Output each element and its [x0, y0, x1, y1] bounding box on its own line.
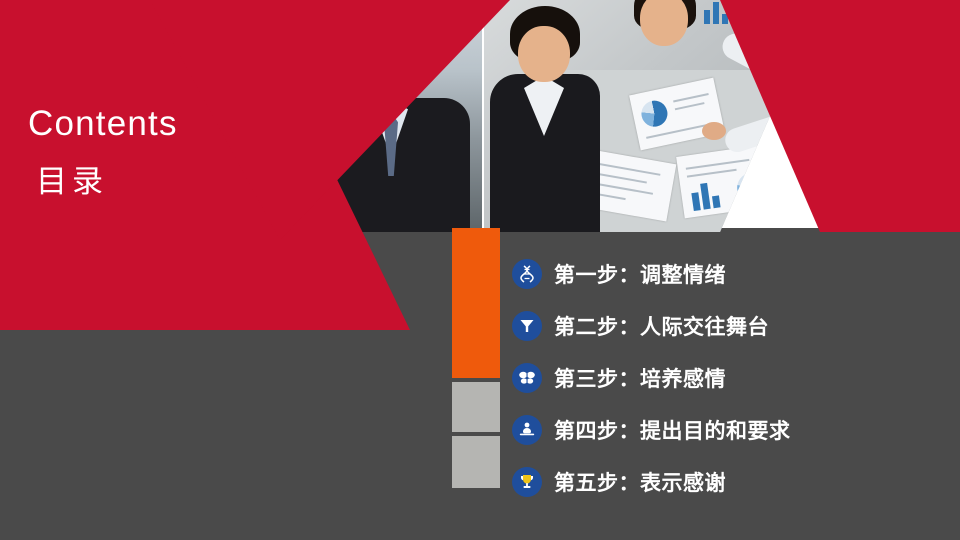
list-item[interactable]: 第二步：人际交往舞台	[512, 300, 932, 352]
photo-hand	[702, 122, 726, 140]
list-item-label: 第四步：提出目的和要求	[554, 415, 791, 445]
segmented-accent-bar	[452, 228, 500, 492]
photo-bar	[704, 10, 710, 24]
photo-text-line	[687, 169, 737, 178]
accent-bar-segment-1	[452, 228, 500, 378]
list-item[interactable]: 第四步：提出目的和要求	[512, 404, 932, 456]
trophy-icon	[512, 467, 542, 497]
dna-helix-icon	[512, 259, 542, 289]
person-meditating-icon	[512, 415, 542, 445]
photo-bar	[700, 183, 711, 210]
butterfly-icon	[512, 363, 542, 393]
agenda-list: 第一步：调整情绪 第二步：人际交往舞台 第三步：培养感情	[512, 248, 932, 508]
list-item-label: 第三步：培养感情	[554, 363, 726, 393]
accent-bar-segment-2	[452, 382, 500, 432]
page-title-en: Contents	[28, 104, 178, 144]
photo-pie-chart	[735, 171, 769, 205]
page-title-cn: 目录	[36, 156, 108, 201]
list-item[interactable]: 第五步：表示感谢	[512, 456, 932, 508]
photo-bar	[691, 192, 700, 211]
slide-canvas: Contents 目录 第一步：调整情绪 第二步：人际交往	[0, 0, 960, 540]
list-item[interactable]: 第一步：调整情绪	[512, 248, 932, 300]
photo-pie-chart	[639, 98, 670, 129]
photo-text-line	[675, 102, 705, 110]
photo-bar	[713, 2, 719, 24]
funnel-icon	[512, 311, 542, 341]
list-item-label: 第五步：表示感谢	[554, 467, 726, 497]
list-item-label: 第一步：调整情绪	[554, 259, 726, 289]
photo-text-line	[686, 159, 750, 170]
accent-bar-segment-3	[452, 436, 500, 488]
photo-seated-man-face	[518, 26, 570, 82]
list-item-label: 第二步：人际交往舞台	[554, 311, 769, 341]
list-item[interactable]: 第三步：培养感情	[512, 352, 932, 404]
photo-document-2	[676, 144, 780, 219]
photo-bar	[712, 195, 721, 208]
